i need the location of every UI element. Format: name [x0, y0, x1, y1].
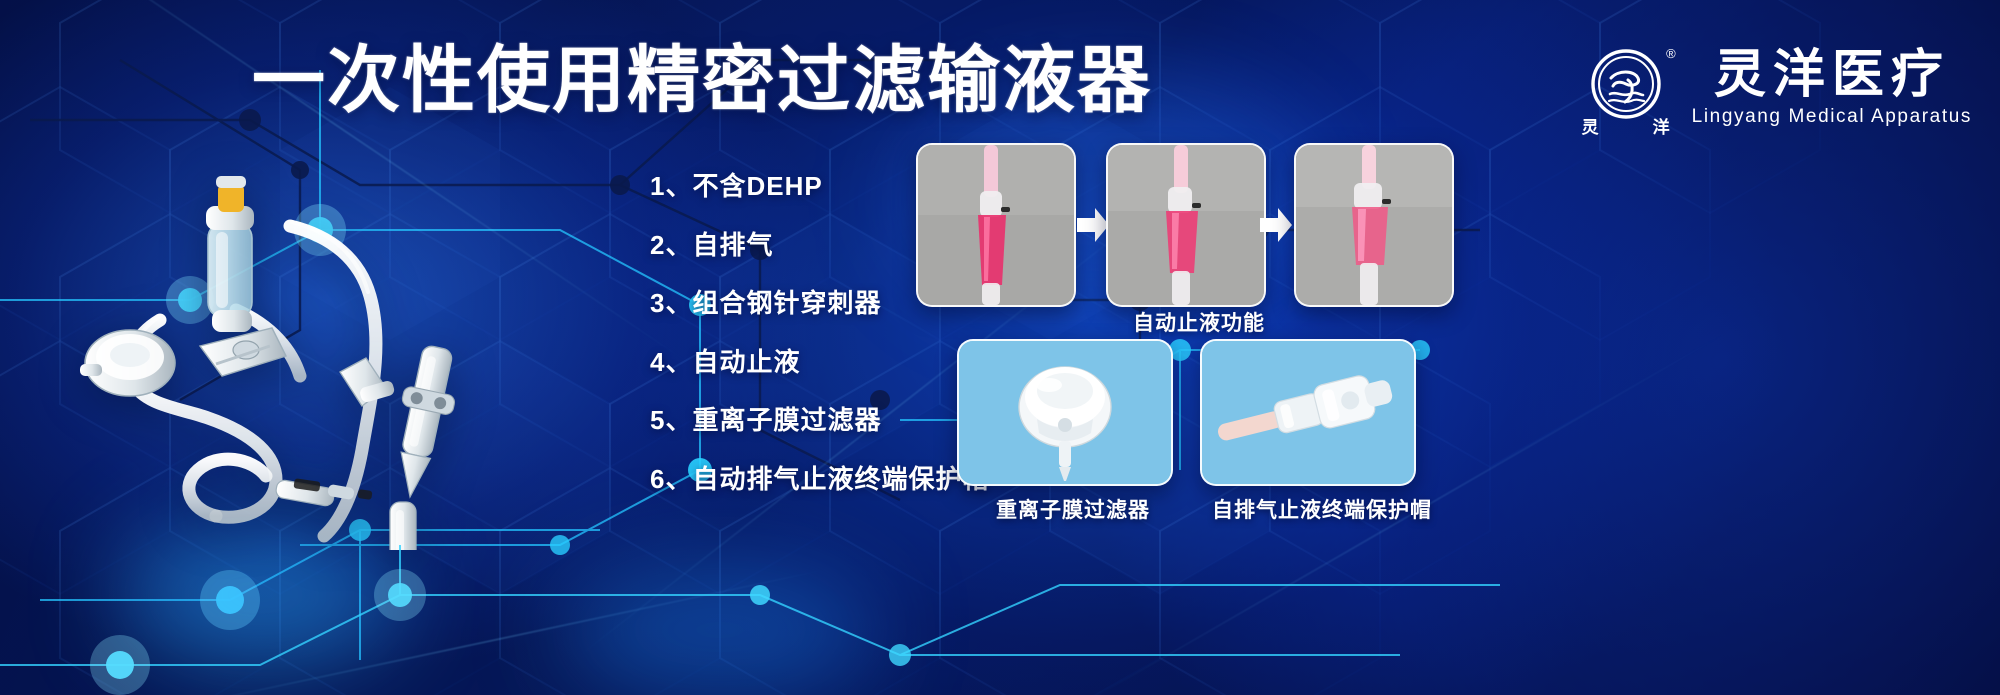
registered-trademark-icon: ®: [1666, 46, 1676, 61]
page-title: 一次性使用精密过滤输液器: [252, 44, 1152, 117]
logo-emblem-icon: ® 灵 洋: [1578, 40, 1674, 136]
needle-protector: [383, 342, 465, 501]
y-connector: [340, 358, 396, 406]
photo-auto-stop-stage-1: [916, 143, 1076, 307]
photo-content: [918, 145, 1074, 305]
feature-item: 5、重离子膜过滤器: [650, 406, 989, 435]
caption-auto-stop-function: 自动止液功能: [1133, 307, 1265, 337]
photo-content: [1296, 145, 1452, 305]
photo-content: [1108, 145, 1264, 305]
caption-heavy-ion-membrane-filter: 重离子膜过滤器: [996, 494, 1150, 524]
feature-item: 4、自动止液: [650, 348, 989, 377]
emblem-char-left: 灵: [1582, 113, 1599, 138]
arrow-right-icon: [1258, 205, 1294, 245]
emblem-char-right: 洋: [1653, 113, 1670, 138]
brand-name-cn: 灵洋医疗: [1714, 48, 1950, 103]
caption-terminal-protective-cap: 自排气止液终端保护帽: [1212, 494, 1432, 524]
photo-content: [1202, 341, 1414, 484]
bottom-network-glow: [0, 545, 2000, 695]
vent-cap: [390, 502, 416, 550]
product-banner: 一次性使用精密过滤输液器 ® 灵 洋 灵洋医疗 Lingyang Medical…: [0, 0, 2000, 695]
brand-logo: ® 灵 洋 灵洋医疗 Lingyang Medical Apparatus: [1578, 40, 1972, 136]
filter-disc: [80, 330, 175, 396]
photo-auto-stop-stage-3: [1294, 143, 1454, 307]
hero-product-image: [40, 150, 650, 550]
brand-name-block: 灵洋医疗 Lingyang Medical Apparatus: [1692, 48, 1972, 128]
photo-terminal-protective-cap: [1200, 339, 1416, 486]
photo-heavy-ion-membrane-filter: [957, 339, 1173, 486]
photo-content: [959, 341, 1171, 484]
brand-name-en: Lingyang Medical Apparatus: [1692, 106, 1972, 128]
feature-item: 6、自动排气止液终端保护帽: [650, 465, 989, 494]
roller-clamp: [200, 328, 286, 376]
photo-auto-stop-stage-2: [1106, 143, 1266, 307]
drip-chamber: [206, 176, 254, 332]
